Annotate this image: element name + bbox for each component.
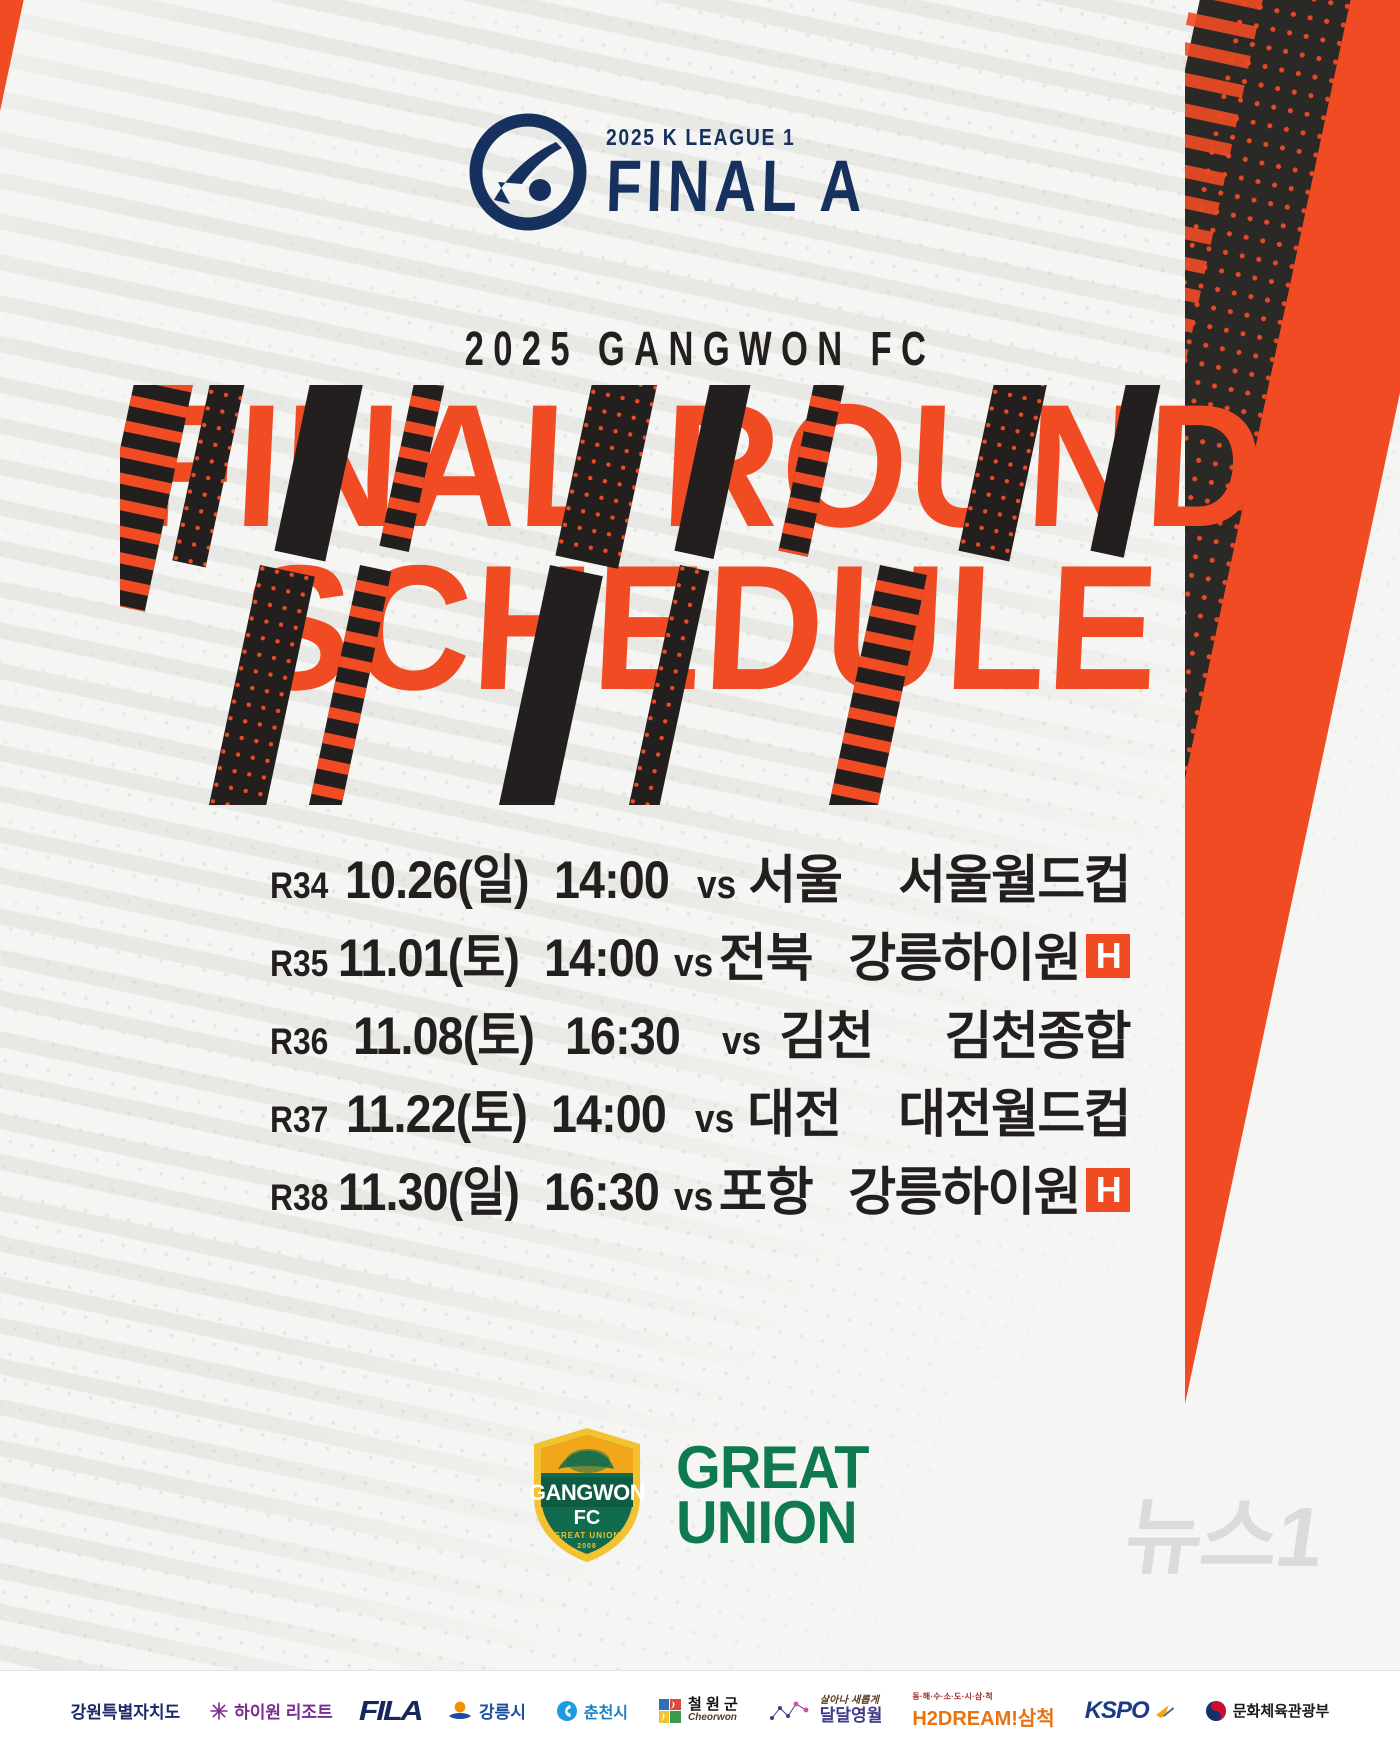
gangneung-sun-wave-icon xyxy=(447,1699,473,1723)
sponsor-label: 강원특별자치도 xyxy=(71,1698,180,1723)
svg-text:GREAT UNION: GREAT UNION xyxy=(554,1531,620,1540)
venue-name: 서울월드컵 xyxy=(898,838,1130,913)
sponsor-label: KSPO xyxy=(1085,1697,1149,1725)
home-game-badge: H xyxy=(1086,934,1130,978)
sponsor-label: 하이원 리조트 xyxy=(234,1698,333,1723)
vs-label: vs xyxy=(722,1019,772,1064)
club-logo-row: GANGWON FC GREAT UNION 2008 GREAT UNION xyxy=(0,1425,1400,1565)
match-date: 10.26(일) xyxy=(345,838,529,914)
venue-text: 강릉하이원 xyxy=(848,916,1080,991)
great-union-wordmark: GREAT UNION xyxy=(672,1440,873,1550)
sponsor-sublabel: 동·해·수·소·도·시·삼·척 xyxy=(912,1691,1054,1702)
sponsor-gangwon-special-self-governing-province: 강원특별자치도 xyxy=(71,1698,180,1723)
sponsor-label: 춘천시 xyxy=(584,1699,628,1723)
round-label: R36 xyxy=(270,1021,341,1063)
sponsor-gangneung-city: 강릉시 xyxy=(447,1698,526,1723)
great-union-line-1: GREAT xyxy=(676,1440,869,1495)
sponsor-ministry-of-culture-sports-tourism: 문화체육관광부 xyxy=(1205,1700,1330,1722)
match-time: 16:30 xyxy=(544,1162,659,1223)
headline-line-1: FINAL ROUND xyxy=(45,385,1355,550)
match-date: 11.22(토) xyxy=(346,1072,527,1148)
taegeuk-icon xyxy=(1205,1700,1227,1722)
sponsor-label: 강릉시 xyxy=(479,1698,526,1723)
yeongwol-constellation-icon xyxy=(768,1698,814,1724)
venue-text: 김천종합 xyxy=(945,994,1130,1069)
sponsor-label: 문화체육관광부 xyxy=(1233,1700,1330,1721)
sponsor-label: FILA xyxy=(359,1695,421,1727)
svg-text:GANGWON: GANGWON xyxy=(529,1480,645,1505)
vs-label: vs xyxy=(695,1097,741,1142)
k-league-title: FINAL A xyxy=(605,153,868,220)
venue-name: 김천종합 xyxy=(945,994,1130,1069)
opponent-name: 포항 xyxy=(719,1150,848,1225)
match-date: 11.01(토) xyxy=(338,916,519,992)
round-label: R34 xyxy=(270,865,334,907)
sponsor-dal-dal-yeongwol: 살아나 새롭게 달달영월 xyxy=(768,1696,883,1724)
sponsor-bar: 강원특별자치도 하이원 리조트 FILA 강릉시 xyxy=(0,1670,1400,1750)
schedule-row: R34 10.26(일) 14:00 vs 서울 서울월드컵 xyxy=(270,838,1130,910)
schedule-row: R35 11.01(토) 14:00 vs 전북 강릉하이원H xyxy=(270,916,1130,988)
sponsor-high1-resort: 하이원 리조트 xyxy=(210,1698,333,1723)
vs-label: vs xyxy=(674,941,713,986)
venue-name: 강릉하이원H xyxy=(848,1150,1130,1225)
svg-text:FC: FC xyxy=(573,1507,600,1529)
venue-name: 강릉하이원H xyxy=(848,916,1130,991)
sponsor-kspo: KSPO xyxy=(1085,1697,1175,1725)
opponent-name: 서울 xyxy=(748,838,898,913)
svg-text:2008: 2008 xyxy=(577,1543,597,1550)
sponsor-chuncheon-city: 춘천시 xyxy=(556,1699,628,1723)
home-game-badge: H xyxy=(1086,1168,1130,1212)
sponsor-sublabel: Cheorwon xyxy=(688,1713,738,1724)
vs-label: vs xyxy=(697,863,743,908)
poster-canvas: 2025 K LEAGUE 1 FINAL A 2025 GANGWON FC … xyxy=(0,0,1400,1750)
sponsor-label-block: 살아나 새롭게 달달영월 xyxy=(820,1696,883,1724)
schedule-row: R37 11.22(토) 14:00 vs 대전 대전월드컵 xyxy=(270,1072,1130,1144)
match-time: 14:00 xyxy=(551,1084,678,1145)
opponent-name: 전북 xyxy=(719,916,848,991)
opponent-name: 김천 xyxy=(779,994,944,1069)
match-time: 14:00 xyxy=(554,850,680,911)
match-time: 16:30 xyxy=(565,1006,703,1067)
sponsor-label: 달달영월 xyxy=(820,1706,883,1725)
round-label: R37 xyxy=(270,1099,335,1141)
sponsor-fila: FILA xyxy=(359,1695,421,1727)
cheorwon-emblem-icon xyxy=(658,1698,682,1724)
opponent-name: 대전 xyxy=(747,1072,898,1147)
sponsor-label: 철 원 군 xyxy=(688,1696,738,1713)
k-league-final-a-logo-icon xyxy=(468,112,588,232)
venue-text: 서울월드컵 xyxy=(898,838,1130,913)
sponsor-h2-dream-samcheok: 동·해·수·소·도·시·삼·척 H2DREAM!삼척 xyxy=(912,1691,1054,1731)
venue-name: 대전월드컵 xyxy=(898,1072,1130,1147)
venue-text: 대전월드컵 xyxy=(898,1072,1130,1147)
chuncheon-c-icon xyxy=(556,1700,578,1722)
sponsor-cheorwon-gun: 철 원 군 Cheorwon xyxy=(658,1697,738,1723)
sponsor-label-block: 동·해·수·소·도·시·삼·척 H2DREAM!삼척 xyxy=(912,1691,1054,1731)
sponsor-label: H2DREAM!삼척 xyxy=(912,1708,1054,1730)
schedule-list: R34 10.26(일) 14:00 vs 서울 서울월드컵 R35 11.01… xyxy=(0,838,1400,1222)
k-league-header: 2025 K LEAGUE 1 FINAL A xyxy=(0,112,1400,232)
match-date: 11.30(일) xyxy=(338,1150,519,1226)
schedule-row: R36 11.08(토) 16:30 vs 김천 김천종합 xyxy=(270,994,1130,1066)
gangwon-fc-crest-icon: GANGWON FC GREAT UNION 2008 xyxy=(528,1425,646,1565)
match-date: 11.08(토) xyxy=(353,994,540,1070)
great-union-line-2: UNION xyxy=(676,1495,869,1550)
snowflake-icon xyxy=(210,1702,228,1720)
headline-block: FINAL ROUND SCHEDULE xyxy=(0,385,1400,711)
vs-label: vs xyxy=(674,1175,713,1220)
sponsor-label-block: 철 원 군 Cheorwon xyxy=(688,1697,738,1723)
headline-line-2: SCHEDULE xyxy=(45,544,1355,711)
schedule-row: R38 11.30(일) 16:30 vs 포항 강릉하이원H xyxy=(270,1150,1130,1222)
venue-text: 강릉하이원 xyxy=(848,1150,1080,1225)
round-label: R38 xyxy=(270,1177,328,1219)
round-label: R35 xyxy=(270,943,328,985)
match-time: 14:00 xyxy=(544,928,659,989)
kspo-swoosh-icon xyxy=(1155,1703,1175,1719)
